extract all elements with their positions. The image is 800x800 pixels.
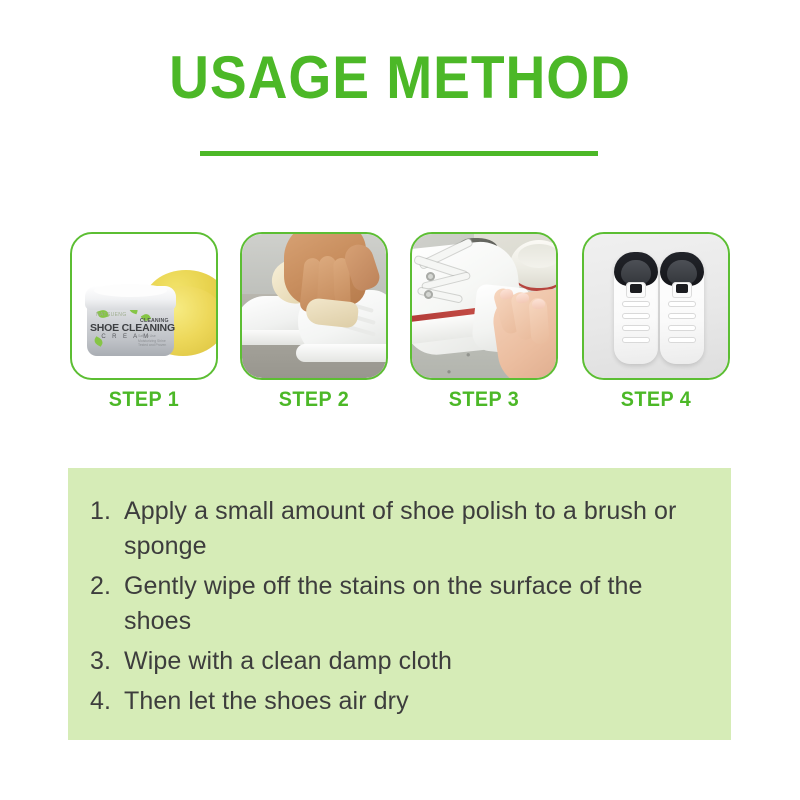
list-item: 1. Apply a small amount of shoe polish t… [90,494,709,564]
instructions-list: 1. Apply a small amount of shoe polish t… [90,494,709,719]
page-header: USAGE METHOD [0,0,800,110]
shoe-logo-icon [630,284,642,293]
list-item: 3. Wipe with a clean damp cloth [90,644,709,679]
step-4-photo [584,234,728,378]
list-item: 2. Gently wipe off the stains on the sur… [90,569,709,639]
list-item-text: Then let the shoes air dry [124,687,409,715]
step-3-image-frame [410,232,558,380]
step-2-image-frame [240,232,388,380]
step-card-1[interactable]: NATSUENG SHOE CLEANING C R E A M CLEANIN… [70,232,218,412]
step-card-3[interactable]: STEP 3 [410,232,558,412]
list-item-number: 3. [90,644,118,679]
list-item-number: 4. [90,684,118,719]
list-item-text: Gently wipe off the stains on the surfac… [124,572,643,635]
step-1-photo: NATSUENG SHOE CLEANING C R E A M CLEANIN… [72,234,216,378]
product-side-text: CLEANING [140,318,170,324]
step-3-photo [412,234,556,378]
step-2-label: STEP 2 [244,388,383,412]
list-item-number: 1. [90,494,118,529]
step-4-image-frame [582,232,730,380]
step-card-4[interactable]: STEP 4 [582,232,730,412]
step-card-2[interactable]: STEP 2 [240,232,388,412]
instructions-panel: 1. Apply a small amount of shoe polish t… [68,468,731,740]
list-item-text: Apply a small amount of shoe polish to a… [124,497,676,560]
shoe-logo-icon [676,284,688,293]
cream-jar-lid-top [94,284,167,297]
title-underline-bar [200,151,598,156]
page-title: USAGE METHOD [32,0,768,110]
list-item: 4. Then let the shoes air dry [90,684,709,719]
product-fine-print: Safe to Use Moisturizing Shine Tested an… [138,334,168,348]
list-item-number: 2. [90,569,118,604]
step-1-image-frame: NATSUENG SHOE CLEANING C R E A M CLEANIN… [70,232,218,380]
step-4-label: STEP 4 [586,388,725,412]
step-1-label: STEP 1 [74,388,213,412]
list-item-text: Wipe with a clean damp cloth [124,647,452,675]
product-brand: NATSUENG [96,312,144,318]
steps-row: NATSUENG SHOE CLEANING C R E A M CLEANIN… [70,232,730,417]
step-3-label: STEP 3 [414,388,553,412]
step-2-photo [242,234,386,378]
